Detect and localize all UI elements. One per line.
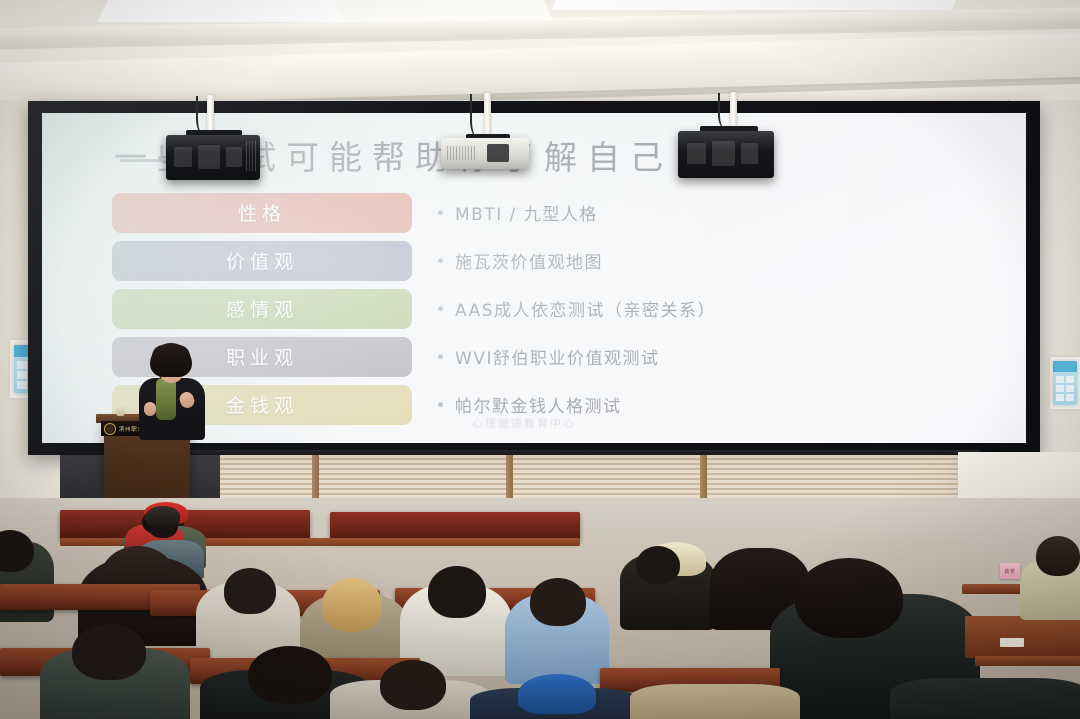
projector-right-lens — [687, 143, 706, 164]
bullet-dot-icon — [438, 258, 443, 263]
audience-head — [636, 546, 680, 584]
bullet-text: MBTI / 九型人格 — [455, 200, 598, 225]
category-label: 感情观 — [226, 295, 298, 322]
audience-torso-near — [630, 684, 800, 719]
bullet-item: WVI舒伯职业价值观测试 — [438, 344, 659, 369]
audience-head-right — [1036, 536, 1080, 576]
speaker-hand-left — [144, 402, 156, 416]
audience-head-near — [248, 646, 332, 704]
projector-right — [678, 131, 774, 178]
projector-right-cable — [718, 93, 736, 129]
slide-watermark: 心理健康教育中心 — [472, 415, 576, 431]
bullet-dot-icon — [438, 306, 443, 311]
bullet-dot-icon — [438, 354, 443, 359]
projector-left — [166, 135, 260, 180]
slide-rows: 性格 MBTI / 九型人格 价值观 施瓦茨价值观地图 — [112, 191, 996, 431]
speaker-scarf — [156, 378, 176, 420]
audience-head-foreground — [795, 558, 903, 638]
projector-left-lens-3 — [226, 147, 242, 167]
audience-head — [428, 566, 486, 618]
bullet-text: AAS成人依恋测试（亲密关系） — [455, 296, 716, 321]
projector-center-lens — [487, 144, 509, 162]
projector-center-vent — [447, 146, 477, 160]
projector-left-lens — [174, 147, 192, 167]
audience-head-near — [72, 624, 146, 680]
name-card: 获奖 — [1000, 563, 1020, 579]
bullet-dot-icon — [438, 210, 443, 215]
category-label: 金钱观 — [226, 391, 298, 418]
bullet-text: WVI舒伯职业价值观测试 — [455, 344, 659, 369]
audience-torso-near — [890, 678, 1080, 719]
bullet-text: 帕尔默金钱人格测试 — [455, 392, 622, 417]
projector-center-cable — [470, 94, 490, 138]
name-card-text: 获奖 — [1004, 568, 1015, 575]
audience-cap — [146, 506, 180, 526]
category-label: 价值观 — [226, 247, 298, 274]
slide-row: 性格 MBTI / 九型人格 — [112, 191, 996, 234]
bullet-item: MBTI / 九型人格 — [438, 200, 598, 225]
water-cup — [116, 404, 125, 416]
audience-head-near — [380, 660, 446, 710]
bullet-item: 施瓦茨价值观地图 — [438, 248, 603, 273]
projector-left-cable — [196, 96, 214, 134]
ceiling-recess-right — [552, 0, 968, 10]
audience-area — [0, 498, 1080, 719]
ceiling-recess-center — [318, 0, 552, 20]
bullet-item: 帕尔默金钱人格测试 — [438, 392, 622, 417]
notice-right-grid — [1056, 376, 1074, 402]
bullet-text: 施瓦茨价值观地图 — [455, 248, 603, 273]
projector-left-vent — [246, 141, 257, 171]
bullet-dot-icon — [438, 402, 443, 407]
slide-row: 感情观 AAS成人依恋测试（亲密关系） — [112, 287, 996, 330]
projector-right-lens-2 — [712, 141, 735, 166]
notice-right-header — [1053, 361, 1077, 372]
desk-paper — [1000, 638, 1024, 647]
ceiling — [0, 0, 1080, 112]
category-label: 性格 — [238, 199, 286, 226]
slide-row: 职业观 WVI舒伯职业价值观测试 — [112, 335, 996, 378]
slide-row: 价值观 施瓦茨价值观地图 — [112, 239, 996, 282]
audience-head — [224, 568, 276, 614]
category-chip-values: 价值观 — [112, 241, 412, 281]
university-seal-icon — [104, 423, 116, 435]
category-chip-relationships: 感情观 — [112, 289, 412, 329]
audience-head-blonde — [322, 578, 382, 632]
category-label: 职业观 — [226, 343, 298, 370]
audience-head — [530, 578, 586, 626]
right-desk-edge — [975, 656, 1080, 666]
lecture-hall-photo: 一些测试可能帮助你了解自己 性格 MBTI / 九型人格 价值观 — [0, 0, 1080, 719]
bullet-item: AAS成人依恋测试（亲密关系） — [438, 296, 716, 321]
projector-right-lens-3 — [741, 143, 758, 164]
projector-center — [441, 138, 529, 169]
notice-right[interactable] — [1053, 361, 1077, 405]
category-chip-personality: 性格 — [112, 193, 412, 233]
right-desk — [965, 616, 1080, 658]
speaker-hair-fringe — [152, 345, 190, 361]
projector-left-lens-2 — [198, 145, 220, 169]
audience-cap-blue — [518, 674, 596, 714]
